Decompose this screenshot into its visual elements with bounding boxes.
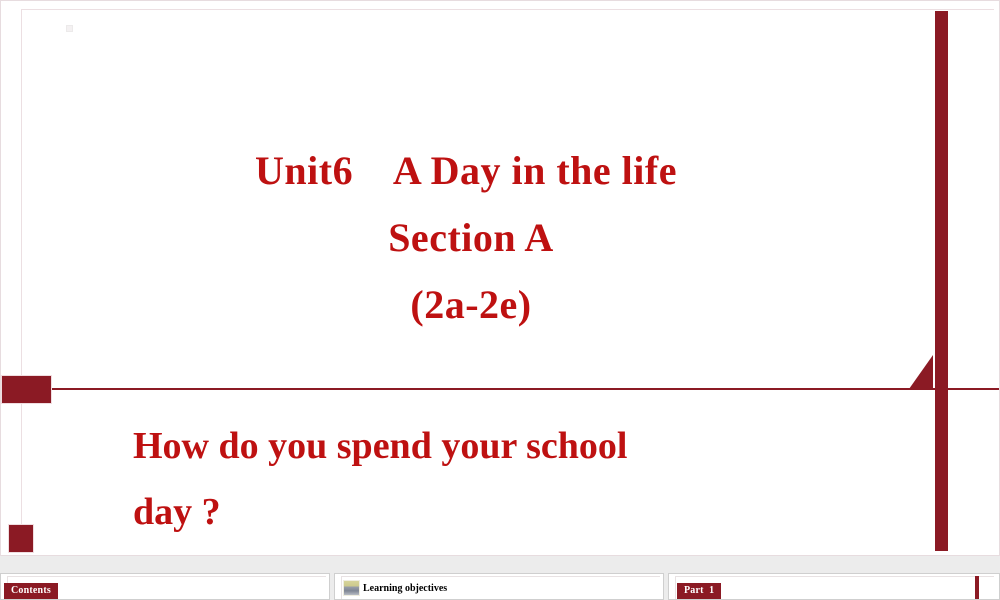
- contents-badge: Contents: [4, 583, 58, 600]
- left-accent-square: [8, 524, 34, 553]
- thumbnail-inner-frame: [675, 576, 994, 600]
- placeholder-marker-icon: [66, 25, 73, 32]
- question-line-2: day ?: [133, 479, 833, 545]
- title-line-2: Section A: [61, 204, 881, 271]
- filmstrip-thumbnail-part-1[interactable]: Part 1: [668, 573, 1000, 600]
- filmstrip-thumbnail-contents[interactable]: Contents: [0, 573, 330, 600]
- left-accent-block: [1, 375, 52, 404]
- part-badge: Part 1: [677, 583, 721, 600]
- question-line-1: How do you spend your school: [133, 413, 833, 479]
- learning-objectives-row: Learning objectives: [343, 580, 447, 596]
- left-pointing-triangle-icon: [909, 355, 933, 389]
- slide-question: How do you spend your school day ?: [133, 413, 833, 545]
- picture-thumbnail-icon: [343, 580, 360, 596]
- slide-title: Unit6 A Day in the life Section A (2a-2e…: [61, 137, 881, 338]
- slide-canvas[interactable]: Unit6 A Day in the life Section A (2a-2e…: [0, 0, 1000, 556]
- slide-filmstrip: Contents Learning objectives Part 1: [0, 556, 1000, 600]
- presentation-window: Unit6 A Day in the life Section A (2a-2e…: [0, 0, 1000, 600]
- horizontal-divider-line: [1, 388, 1000, 390]
- title-line-3: (2a-2e): [61, 271, 881, 338]
- learning-objectives-label: Learning objectives: [363, 582, 447, 595]
- thumbnail-vertical-accent-bar: [975, 576, 979, 599]
- title-line-1: Unit6 A Day in the life: [61, 137, 881, 204]
- vertical-accent-bar: [935, 11, 948, 551]
- filmstrip-thumbnail-learning-objectives[interactable]: Learning objectives: [334, 573, 664, 600]
